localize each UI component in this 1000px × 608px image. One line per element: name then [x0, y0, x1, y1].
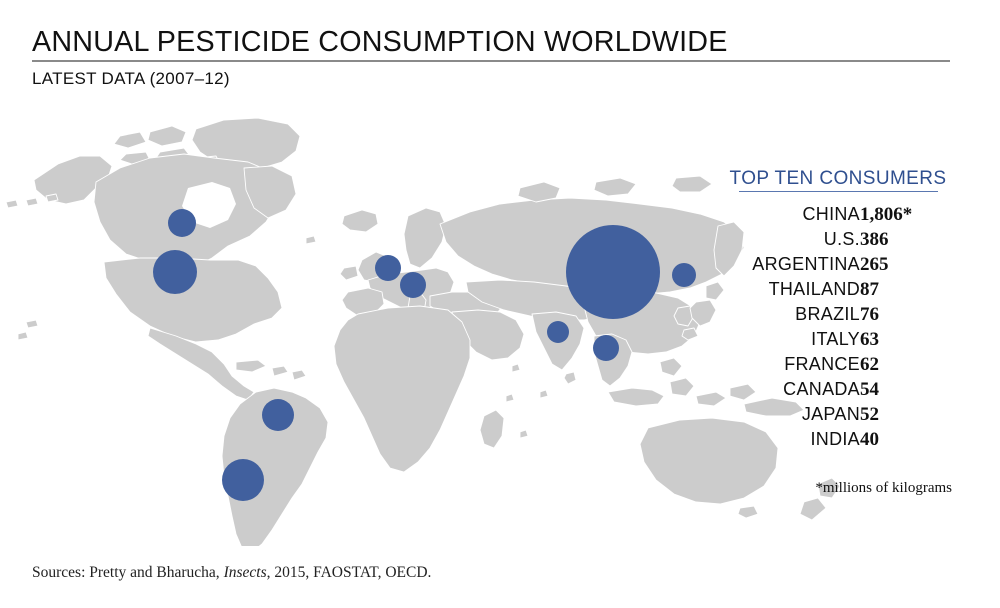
- bubble-brazil[interactable]: [262, 399, 294, 431]
- country-name: FRANCE: [700, 354, 860, 379]
- bubble-france[interactable]: [375, 255, 401, 281]
- country-name: CHINA: [700, 204, 860, 229]
- land-siberia-arctic: [518, 176, 712, 202]
- country-name: THAILAND: [700, 279, 860, 304]
- land-madagascar: [480, 410, 504, 448]
- country-value: 54: [860, 379, 976, 404]
- bubble-thailand[interactable]: [593, 335, 619, 361]
- legend-heading: TOP TEN CONSUMERS: [700, 168, 976, 190]
- title-divider: [32, 60, 950, 62]
- country-name: ITALY: [700, 329, 860, 354]
- table-row: CHINA 1,806*: [700, 204, 976, 229]
- table-row: CANADA 54: [700, 379, 976, 404]
- table-row: INDIA 40: [700, 429, 976, 454]
- bubble-canada[interactable]: [168, 209, 196, 237]
- country-name: U.S.: [700, 229, 860, 254]
- bubble-india[interactable]: [547, 321, 569, 343]
- country-value: 62: [860, 354, 976, 379]
- header: ANNUAL PESTICIDE CONSUMPTION WORLDWIDE L…: [32, 26, 950, 89]
- country-name: INDIA: [700, 429, 860, 454]
- country-value: 87: [860, 279, 976, 304]
- sources-prefix: Sources: Pretty and Bharucha,: [32, 564, 224, 581]
- bubble-japan[interactable]: [672, 263, 696, 287]
- table-row: BRAZIL 76: [700, 304, 976, 329]
- sources-suffix: , 2015, FAOSTAT, OECD.: [267, 564, 432, 581]
- country-name: JAPAN: [700, 404, 860, 429]
- land-sri-lanka: [564, 372, 576, 384]
- infographic-page: ANNUAL PESTICIDE CONSUMPTION WORLDWIDE L…: [0, 0, 1000, 608]
- country-name: BRAZIL: [700, 304, 860, 329]
- unit-footnote: *millions of kilograms: [700, 480, 976, 497]
- bubble-italy[interactable]: [400, 272, 426, 298]
- page-title: ANNUAL PESTICIDE CONSUMPTION WORLDWIDE: [32, 26, 941, 58]
- country-name: ARGENTINA: [700, 254, 860, 279]
- land-iceland: [342, 210, 378, 232]
- land-africa: [334, 306, 470, 472]
- country-name: CANADA: [700, 379, 860, 404]
- table-row: FRANCE 62: [700, 354, 976, 379]
- land-tasmania: [738, 506, 758, 518]
- sources-line: Sources: Pretty and Bharucha, Insects, 2…: [32, 564, 431, 582]
- country-value: 265: [860, 254, 976, 279]
- table-row: ARGENTINA 265: [700, 254, 976, 279]
- table-row: U.S. 386: [700, 229, 976, 254]
- table-row: JAPAN 52: [700, 404, 976, 429]
- country-value: 386: [860, 229, 976, 254]
- land-aleutians: [6, 194, 58, 208]
- bubble-argentina[interactable]: [222, 459, 264, 501]
- land-scandinavia: [404, 208, 446, 268]
- legend-divider: [739, 191, 938, 192]
- land-caribbean: [236, 360, 306, 380]
- country-value: 63: [860, 329, 976, 354]
- page-subtitle: LATEST DATA (2007–12): [32, 69, 950, 89]
- top-ten-table: CHINA 1,806* U.S. 386 ARGENTINA 265 THAI…: [700, 204, 976, 454]
- sources-journal: Insects: [224, 564, 267, 581]
- country-value: 76: [860, 304, 976, 329]
- table-row: ITALY 63: [700, 329, 976, 354]
- table-row: THAILAND 87: [700, 279, 976, 304]
- bubble-china[interactable]: [566, 225, 660, 319]
- bubble-us[interactable]: [153, 250, 197, 294]
- country-value: 1,806*: [860, 204, 976, 229]
- country-value: 52: [860, 404, 976, 429]
- top-ten-consumers-panel: TOP TEN CONSUMERS CHINA 1,806* U.S. 386 …: [700, 168, 976, 497]
- country-value: 40: [860, 429, 976, 454]
